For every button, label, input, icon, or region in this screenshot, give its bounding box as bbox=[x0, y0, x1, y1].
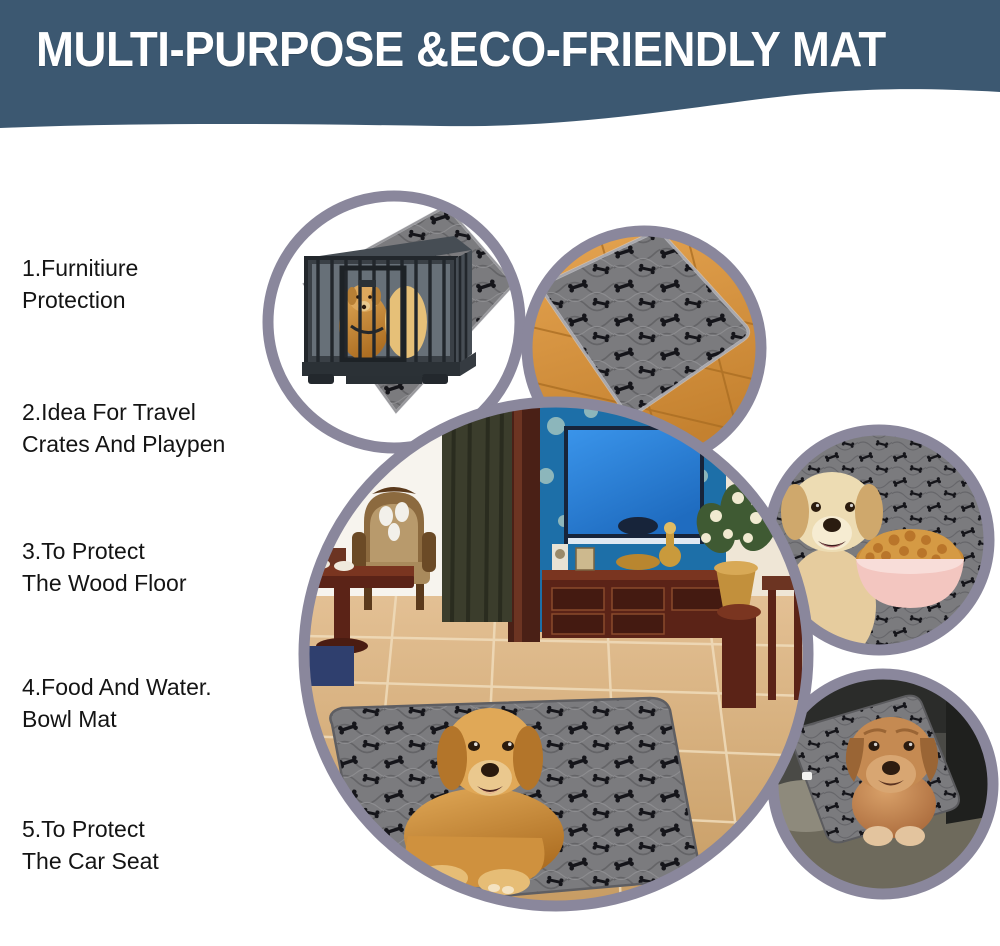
feature-item-2: 2.Idea For Travel Crates And Playpen bbox=[22, 396, 284, 460]
feature-item-1: 1.Furnitiure Protection bbox=[22, 252, 284, 316]
photo-collage bbox=[246, 176, 1000, 946]
infographic-page: MULTI-PURPOSE &ECO-FRIENDLY MAT 1.Furnit… bbox=[0, 0, 1000, 946]
circle-dog-on-mat-living-room bbox=[304, 402, 808, 906]
feature-item-4: 4.Food And Water. Bowl Mat bbox=[22, 671, 284, 735]
dog-crate-icon bbox=[302, 236, 476, 384]
collage-canvas bbox=[246, 176, 1000, 946]
page-title: MULTI-PURPOSE &ECO-FRIENDLY MAT bbox=[36, 22, 901, 78]
header-banner: MULTI-PURPOSE &ECO-FRIENDLY MAT bbox=[0, 0, 1000, 136]
food-bowl bbox=[856, 529, 964, 608]
feature-item-5: 5.To Protect The Car Seat bbox=[22, 813, 284, 877]
feature-item-3: 3.To Protect The Wood Floor bbox=[22, 535, 284, 599]
